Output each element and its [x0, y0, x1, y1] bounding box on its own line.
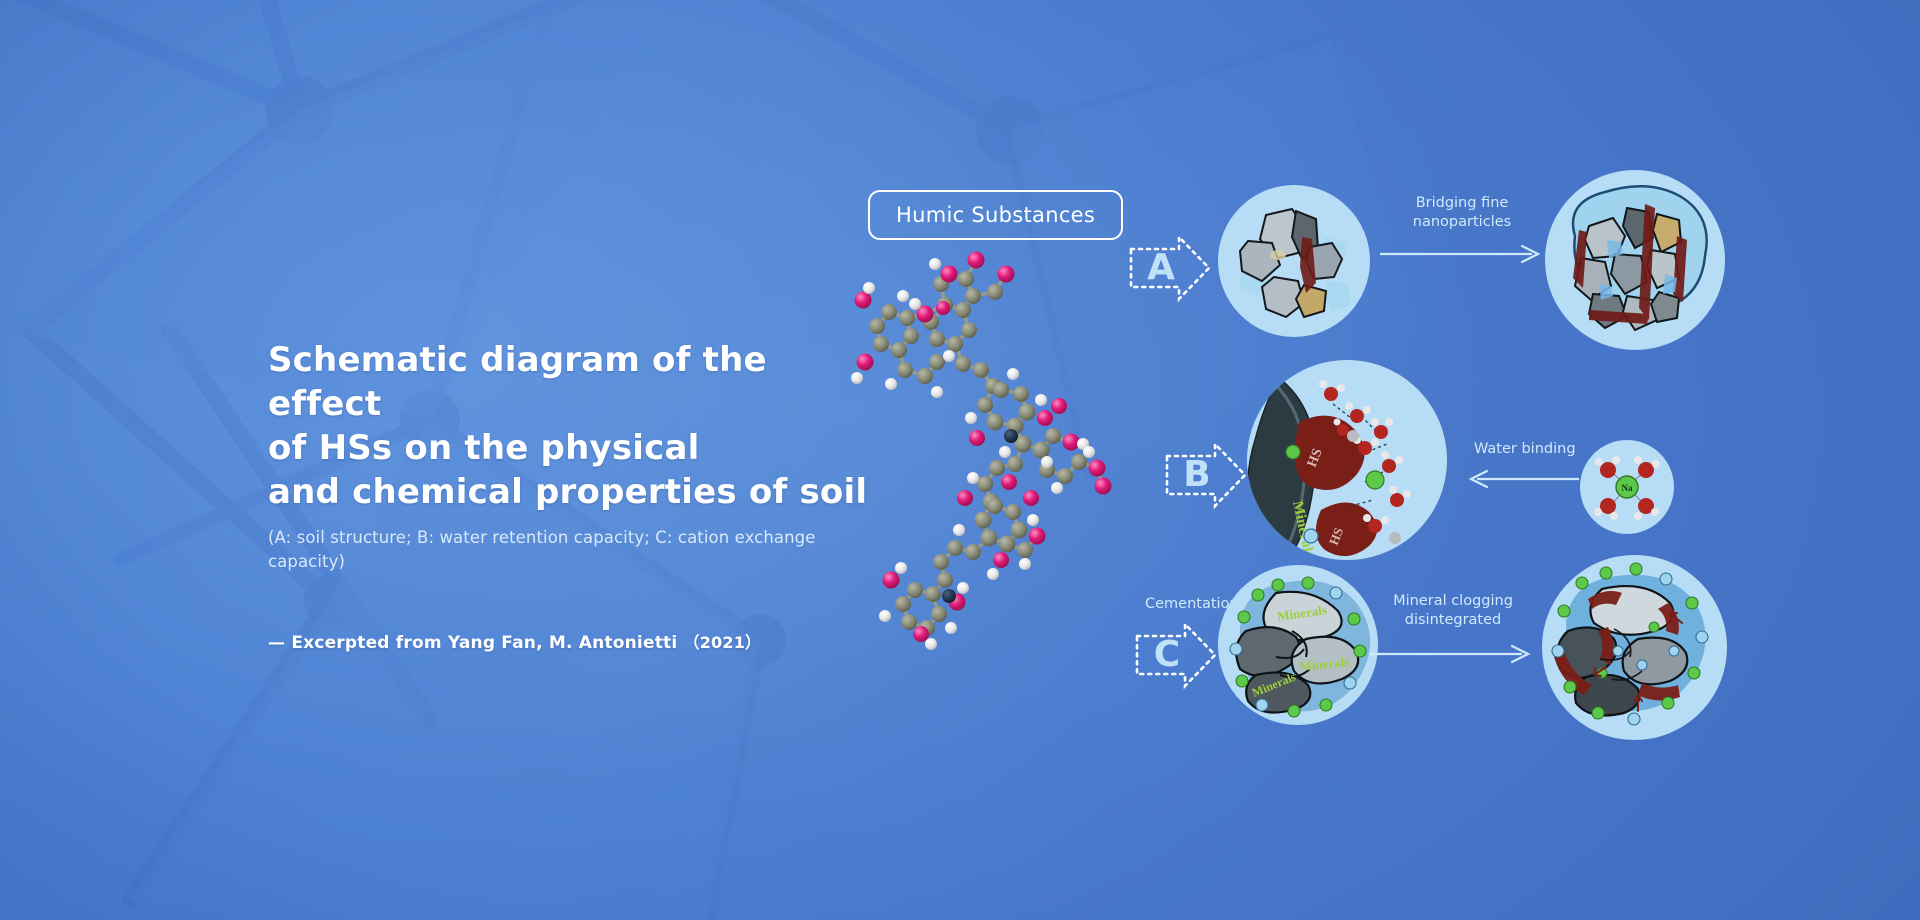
hydrated-cation-illustration: Na [1580, 440, 1674, 534]
soil-particles-loose-illustration [1218, 185, 1370, 337]
minerals-disintegrated-illustration [1542, 555, 1727, 740]
panel-b-flow-label-line1: Water binding [1474, 441, 1576, 457]
step-letter-a: A [1135, 233, 1187, 303]
step-letter-c: C [1141, 620, 1193, 690]
nitrogen-atom [1004, 429, 1018, 443]
panel-c-flow-label-line1: Mineral clogging [1358, 592, 1548, 611]
hs-mineral-water-binding-illustration: Minerals HS HS [1247, 360, 1447, 560]
soil-aggregate-bridged-illustration [1545, 170, 1725, 350]
panel-c-flow-arrow [1370, 643, 1536, 665]
carbon-atoms [869, 271, 1087, 636]
panel-b-end-circle: Na [1580, 440, 1674, 534]
title-line-1: Schematic diagram of the effect [268, 338, 868, 426]
cation-label: Na [1622, 483, 1633, 493]
panel-c-end-circle [1542, 555, 1727, 740]
attribution-text: — Excerpted from Yang Fan, M. Antonietti [268, 633, 677, 653]
page-title: Schematic diagram of the effect of HSs o… [268, 338, 868, 514]
panel-a-flow-label: Bridging fine nanoparticles [1382, 194, 1542, 232]
panel-a-flow-arrow [1380, 243, 1546, 265]
panel-a-end-circle [1545, 170, 1725, 350]
panel-c-pre-label-text: Cementation [1145, 596, 1239, 612]
panel-c-flow-label: Mineral clogging disintegrated [1358, 592, 1548, 630]
step-letter-b: B [1171, 440, 1223, 510]
nitrogen-atom [942, 589, 956, 603]
infographic-canvas: Schematic diagram of the effect of HSs o… [0, 0, 1920, 920]
attribution-year: （2021） [684, 633, 762, 652]
title-line-3: and chemical properties of soil [268, 470, 868, 514]
panel-a-flow-label-line1: Bridging fine [1382, 194, 1542, 213]
panel-c-flow-label-line2: disintegrated [1358, 611, 1548, 630]
panel-b-start-circle: Minerals HS HS [1247, 360, 1447, 560]
panel-b-flow-arrow [1463, 468, 1579, 490]
humic-substance-molecule [845, 230, 1155, 650]
panel-a-start-circle [1218, 185, 1370, 337]
step-arrow-c-letter-wrap: C [1133, 620, 1219, 690]
step-arrow-a-letter-wrap: A [1127, 233, 1213, 303]
headline-block: Schematic diagram of the effect of HSs o… [268, 338, 868, 653]
panel-a-flow-label-line2: nanoparticles [1382, 213, 1542, 232]
title-line-2: of HSs on the physical [268, 426, 868, 470]
minerals-cemented-illustration: Minerals Minerals Minerals [1218, 565, 1378, 725]
step-arrow-b-letter-wrap: B [1163, 440, 1249, 510]
page-subtitle: (A: soil structure; B: water retention c… [268, 526, 868, 574]
panel-c-start-circle: Minerals Minerals Minerals [1218, 565, 1378, 725]
panel-b-flow-label: Water binding [1474, 440, 1576, 459]
attribution: — Excerpted from Yang Fan, M. Antonietti… [268, 629, 868, 653]
